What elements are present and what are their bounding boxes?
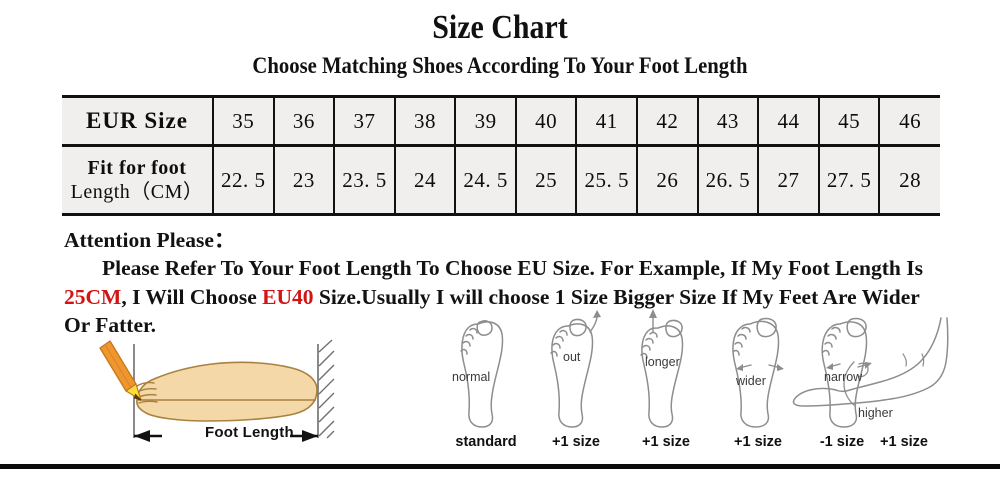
cell-eur-36: 36 [274,97,335,146]
foot-caption-standard: standard [440,434,532,450]
cell-length-44: 27 [758,146,819,215]
cell-length-37: 23. 5 [334,146,395,215]
row-header-eur-size: EUR Size [62,97,213,146]
cell-eur-42: 42 [637,97,698,146]
foot-outline-higher [793,318,947,406]
cell-length-39: 24. 5 [455,146,516,215]
foot-caption-out: +1 size [530,434,622,450]
pencil-icon [100,341,141,400]
cell-eur-38: 38 [395,97,456,146]
cell-eur-35: 35 [213,97,274,146]
foot-caption-wider: +1 size [712,434,804,450]
row-header-foot-length: Fit for foot Length（CM） [62,146,213,215]
foot-side-profile-icon [137,362,317,421]
foot-type-diagrams: normal out longer wider narrow higher st… [440,306,960,456]
foot-label-out: out [563,350,580,364]
cell-length-43: 26. 5 [698,146,759,215]
page-subtitle: Choose Matching Shoes According To Your … [50,47,950,79]
cell-length-36: 23 [274,146,335,215]
attention-body-part1: Please Refer To Your Foot Length To Choo… [102,256,923,280]
wall-hatching-icon [318,340,334,438]
foot-label-wider: wider [736,374,766,388]
page-title: Size Chart [60,0,940,47]
cell-eur-37: 37 [334,97,395,146]
foot-caption-longer: +1 size [620,434,712,450]
cell-eur-40: 40 [516,97,577,146]
cell-eur-44: 44 [758,97,819,146]
foot-caption-higher: +1 size [858,434,950,450]
row-header-foot-length-line1: Fit for foot [63,156,211,180]
attention-heading: Attention Please： [64,226,944,254]
cell-length-40: 25 [516,146,577,215]
cell-eur-46: 46 [879,97,940,146]
cell-length-45: 27. 5 [819,146,880,215]
attention-highlight-foot-length: 25CM [64,285,121,309]
foot-length-label: Foot Length [205,424,294,441]
cell-length-46: 28 [879,146,940,215]
cell-length-38: 24 [395,146,456,215]
cell-eur-45: 45 [819,97,880,146]
attention-highlight-eu-size: EU40 [262,285,313,309]
cell-eur-43: 43 [698,97,759,146]
table-row-foot-length: Fit for foot Length（CM） 22. 5 23 23. 5 2… [62,146,940,215]
size-chart-table-container: EUR Size 35 36 37 38 39 40 41 42 43 44 4… [62,95,940,216]
foot-label-longer: longer [645,355,680,369]
table-row-eur-size: EUR Size 35 36 37 38 39 40 41 42 43 44 4… [62,97,940,146]
cell-length-41: 25. 5 [576,146,637,215]
foot-label-narrow: narrow [824,370,862,384]
foot-outline-wider [733,318,784,427]
foot-label-higher: higher [858,406,893,420]
row-header-foot-length-line2: Length（CM） [63,180,211,204]
cell-length-42: 26 [637,146,698,215]
foot-outline-out [551,310,601,427]
cell-eur-41: 41 [576,97,637,146]
cell-eur-39: 39 [455,97,516,146]
size-chart-table: EUR Size 35 36 37 38 39 40 41 42 43 44 4… [62,95,940,216]
bottom-divider [0,464,1000,469]
cell-length-35: 22. 5 [213,146,274,215]
foot-label-normal: normal [452,370,490,384]
attention-body-part2: , I Will Choose [121,285,262,309]
